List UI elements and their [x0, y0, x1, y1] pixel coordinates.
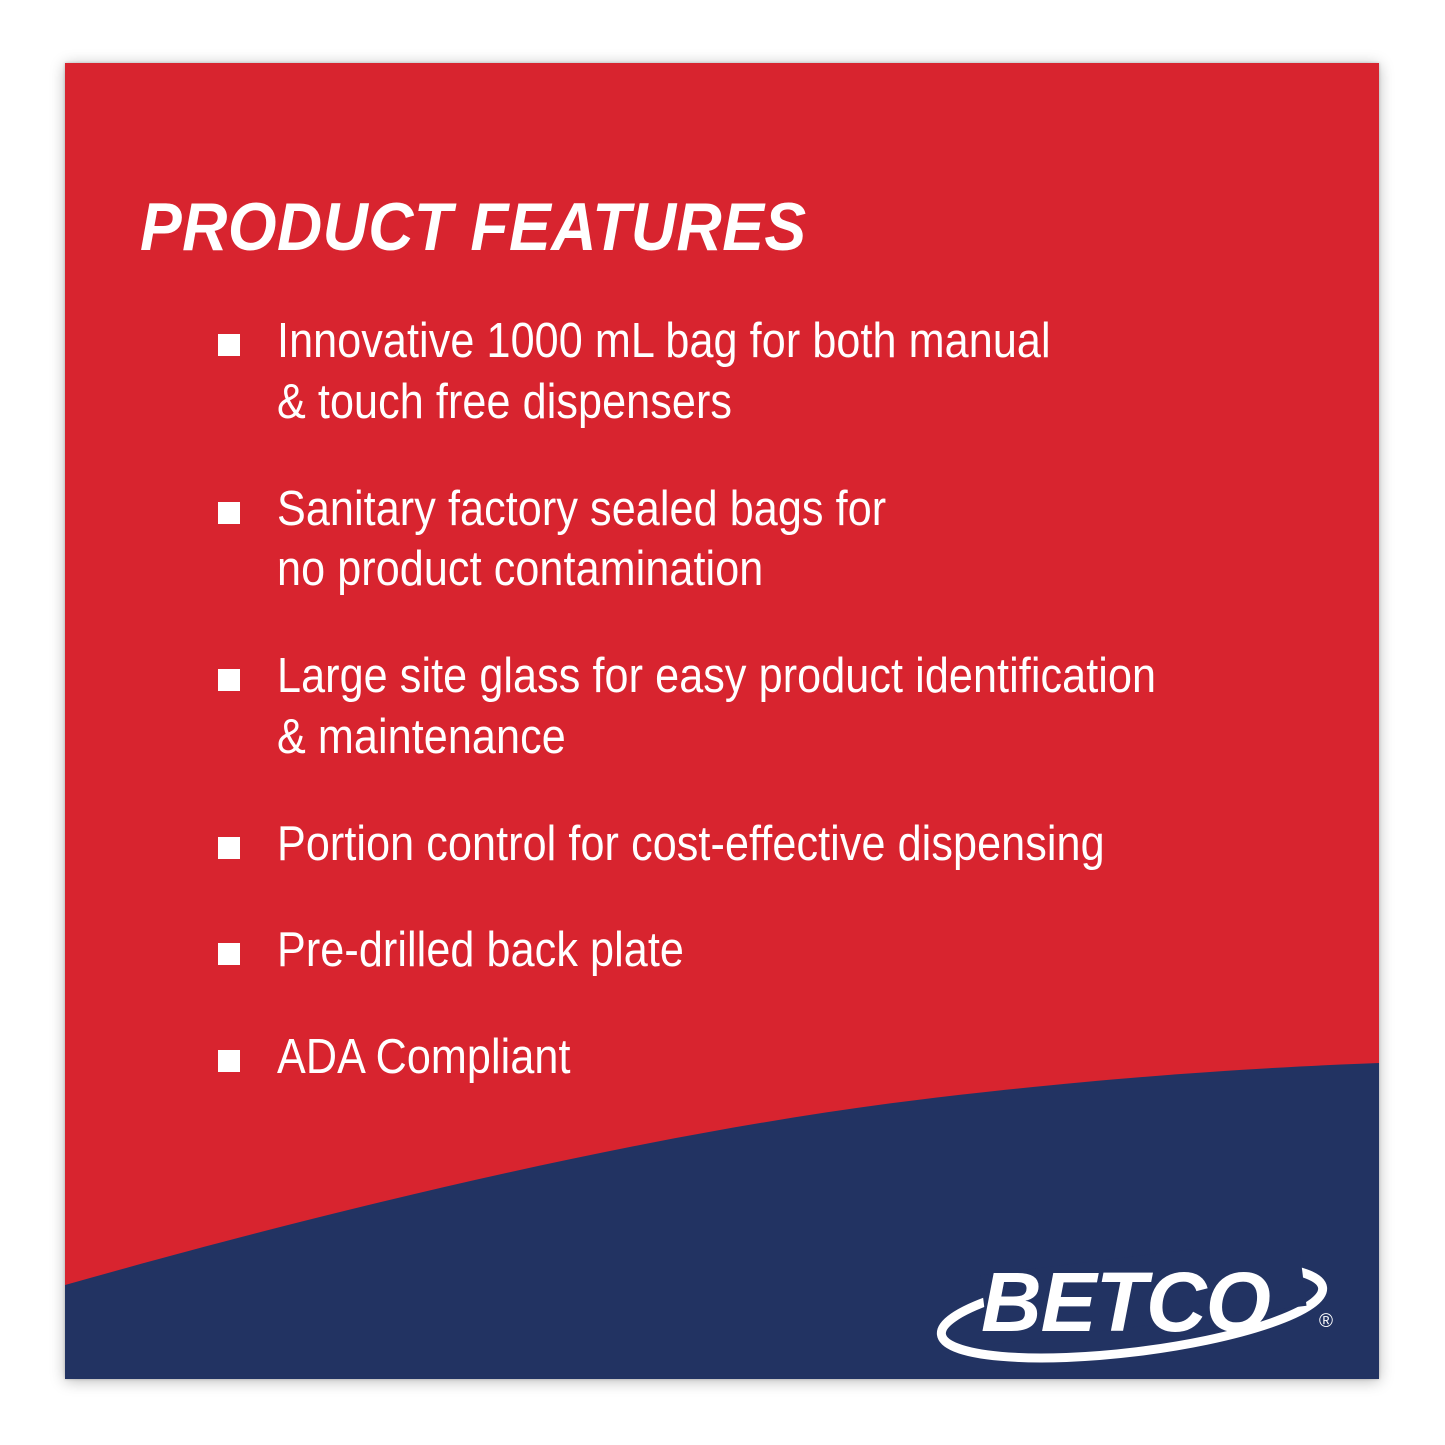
feature-text: ADA Compliant: [277, 1027, 571, 1088]
list-item: Pre-drilled back plate: [218, 920, 1348, 981]
betco-wordmark: BETCO: [981, 1255, 1270, 1349]
betco-logo-svg: BETCO ®: [927, 1249, 1357, 1369]
registered-trademark-icon: ®: [1319, 1311, 1333, 1332]
page-title: PRODUCT FEATURES: [140, 193, 807, 261]
feature-text: Large site glass for easy product identi…: [277, 646, 1156, 768]
red-feature-panel: PRODUCT FEATURES Innovative 1000 mL bag …: [65, 63, 1379, 1379]
bullet-square-icon: [218, 943, 240, 965]
betco-logo: BETCO ®: [927, 1249, 1357, 1369]
feature-text: Portion control for cost-effective dispe…: [277, 814, 1105, 875]
list-item: Sanitary factory sealed bags for no prod…: [218, 479, 1348, 601]
feature-text: Innovative 1000 mL bag for both manual &…: [277, 311, 1051, 433]
list-item: Large site glass for easy product identi…: [218, 646, 1348, 768]
product-features-list: Innovative 1000 mL bag for both manual &…: [218, 311, 1348, 1088]
list-item: ADA Compliant: [218, 1027, 1348, 1088]
list-item: Portion control for cost-effective dispe…: [218, 814, 1348, 875]
bullet-square-icon: [218, 334, 240, 356]
bullet-square-icon: [218, 669, 240, 691]
bullet-square-icon: [218, 837, 240, 859]
product-feature-card-image: PRODUCT FEATURES Innovative 1000 mL bag …: [0, 0, 1445, 1445]
feature-text: Pre-drilled back plate: [277, 920, 684, 981]
bullet-square-icon: [218, 502, 240, 524]
feature-text: Sanitary factory sealed bags for no prod…: [277, 479, 886, 601]
list-item: Innovative 1000 mL bag for both manual &…: [218, 311, 1348, 433]
bullet-square-icon: [218, 1050, 240, 1072]
